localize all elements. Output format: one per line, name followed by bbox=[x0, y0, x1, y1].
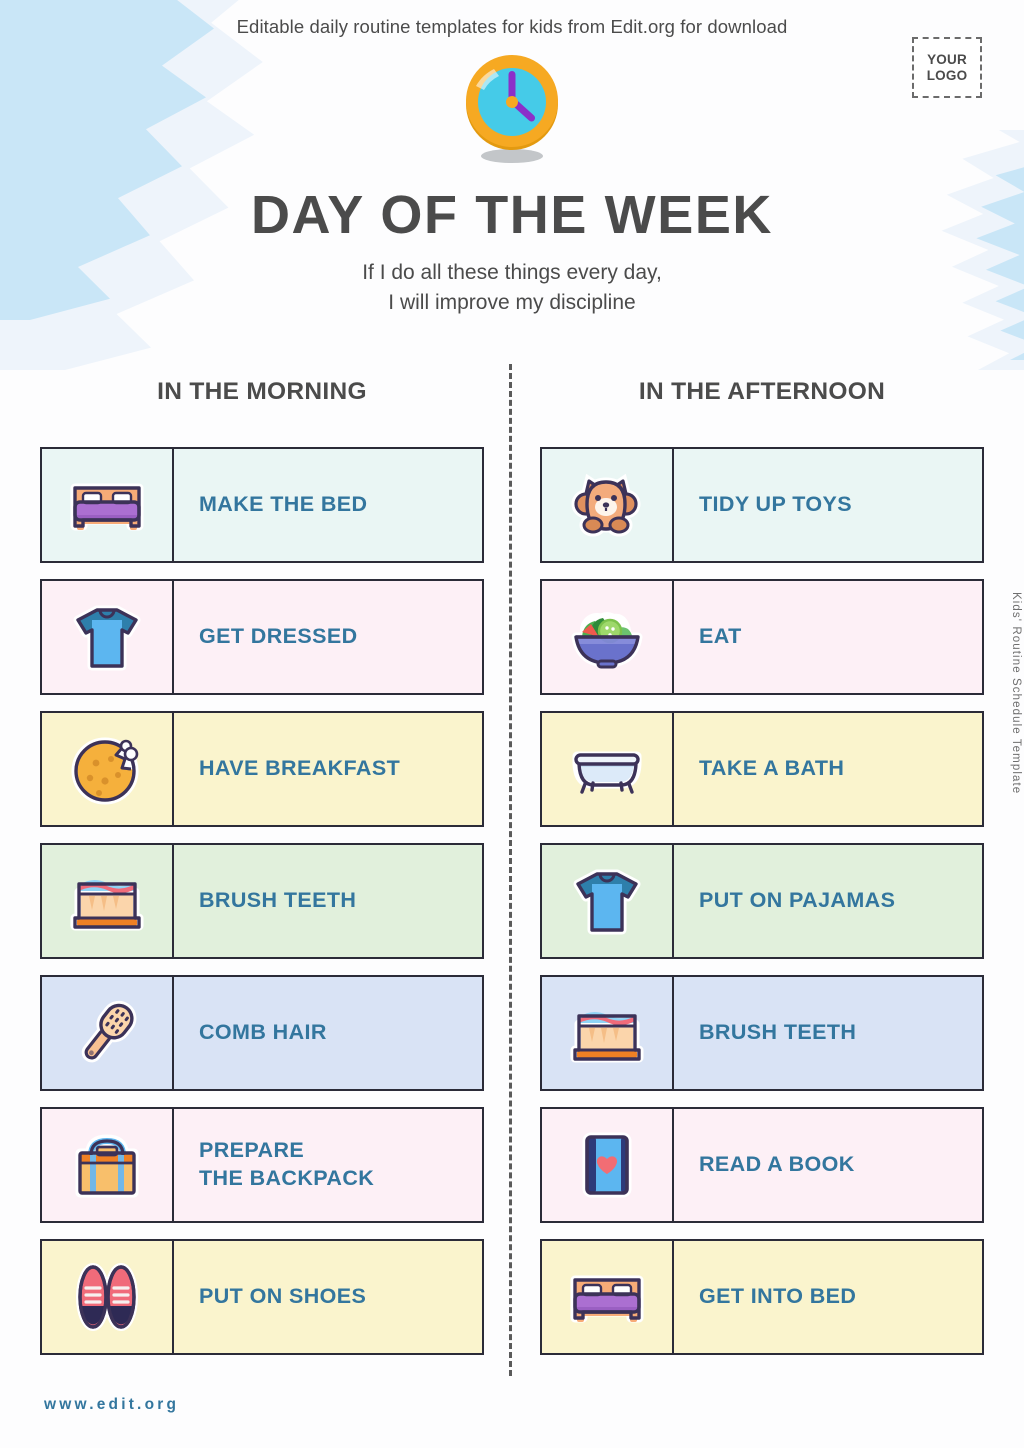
task-label-cell: TIDY UP TOYS bbox=[674, 449, 982, 561]
poster-page: Editable daily routine templates for kid… bbox=[0, 0, 1024, 1448]
backpack-icon bbox=[70, 1128, 144, 1202]
task-label-line-1: GET INTO BED bbox=[699, 1284, 856, 1308]
task-label-line-1: GET DRESSED bbox=[199, 624, 358, 648]
bed-icon bbox=[70, 468, 144, 542]
task-label-cell: BRUSH TEETH bbox=[674, 977, 982, 1089]
task-icon-cell bbox=[542, 1241, 674, 1353]
clock-illustration-wrap bbox=[0, 52, 1024, 167]
task-icon-cell bbox=[42, 1241, 174, 1353]
task-label-cell: PREPARETHE BACKPACK bbox=[174, 1109, 482, 1221]
task-label-line-1: PREPARE bbox=[199, 1138, 304, 1162]
subtitle-line-2: I will improve my discipline bbox=[0, 288, 1024, 318]
task-list-morning: MAKE THE BED GET DRESSED HAVE BREAKFAST bbox=[40, 447, 484, 1371]
task-icon-cell bbox=[542, 713, 674, 825]
task-row[interactable]: EAT bbox=[540, 579, 984, 695]
task-label-line-2: THE BACKPACK bbox=[199, 1165, 374, 1193]
subtitle-line-1: If I do all these things every day, bbox=[0, 258, 1024, 288]
task-label-line-1: PUT ON SHOES bbox=[199, 1284, 366, 1308]
cookie-icon bbox=[70, 732, 144, 806]
task-label-cell: TAKE A BATH bbox=[674, 713, 982, 825]
task-row[interactable]: COMB HAIR bbox=[40, 975, 484, 1091]
task-row[interactable]: READ A BOOK bbox=[540, 1107, 984, 1223]
column-heading-morning: IN THE MORNING bbox=[40, 378, 484, 406]
task-label-line-1: PUT ON PAJAMAS bbox=[699, 888, 895, 912]
task-label-line-1: BRUSH TEETH bbox=[699, 1020, 856, 1044]
page-title: DAY OF THE WEEK bbox=[0, 188, 1024, 242]
task-row[interactable]: HAVE BREAKFAST bbox=[40, 711, 484, 827]
task-label-cell: MAKE THE BED bbox=[174, 449, 482, 561]
task-label-cell: EAT bbox=[674, 581, 982, 693]
clock-icon bbox=[452, 52, 572, 167]
bathtub-icon bbox=[570, 732, 644, 806]
task-label-line-1: TIDY UP TOYS bbox=[699, 492, 852, 516]
toothpaste-icon bbox=[70, 864, 144, 938]
top-caption: Editable daily routine templates for kid… bbox=[0, 16, 1024, 38]
task-label-line-1: HAVE BREAKFAST bbox=[199, 756, 400, 780]
task-list-afternoon: TIDY UP TOYS EAT bbox=[540, 447, 984, 1371]
shoes-icon bbox=[70, 1260, 144, 1334]
task-label-cell: PUT ON SHOES bbox=[174, 1241, 482, 1353]
footer-url[interactable]: www.edit.org bbox=[44, 1396, 179, 1414]
task-row[interactable]: MAKE THE BED bbox=[40, 447, 484, 563]
task-label-cell: GET DRESSED bbox=[174, 581, 482, 693]
task-label-line-1: MAKE THE BED bbox=[199, 492, 367, 516]
task-icon-cell bbox=[542, 449, 674, 561]
task-row[interactable]: TAKE A BATH bbox=[540, 711, 984, 827]
book-icon bbox=[570, 1128, 644, 1202]
side-watermark-text: Kids' Routine Schedule Template bbox=[1010, 592, 1022, 794]
task-icon-cell bbox=[542, 581, 674, 693]
column-divider bbox=[509, 364, 512, 1376]
toothpaste-icon bbox=[570, 996, 644, 1070]
task-icon-cell bbox=[42, 581, 174, 693]
task-icon-cell bbox=[42, 713, 174, 825]
task-row[interactable]: PUT ON SHOES bbox=[40, 1239, 484, 1355]
task-row[interactable]: TIDY UP TOYS bbox=[540, 447, 984, 563]
task-label-cell: GET INTO BED bbox=[674, 1241, 982, 1353]
task-row[interactable]: BRUSH TEETH bbox=[540, 975, 984, 1091]
task-row[interactable]: GET DRESSED bbox=[40, 579, 484, 695]
task-row[interactable]: PREPARETHE BACKPACK bbox=[40, 1107, 484, 1223]
task-icon-cell bbox=[542, 977, 674, 1089]
task-label-line-1: EAT bbox=[699, 624, 742, 648]
task-label-cell: COMB HAIR bbox=[174, 977, 482, 1089]
task-label-cell: HAVE BREAKFAST bbox=[174, 713, 482, 825]
task-row[interactable]: PUT ON PAJAMAS bbox=[540, 843, 984, 959]
task-icon-cell bbox=[542, 845, 674, 957]
blob-right-front bbox=[914, 150, 1024, 360]
teddy-bear-icon bbox=[570, 468, 644, 542]
task-row[interactable]: GET INTO BED bbox=[540, 1239, 984, 1355]
task-icon-cell bbox=[42, 1109, 174, 1221]
task-label-cell: READ A BOOK bbox=[674, 1109, 982, 1221]
task-icon-cell bbox=[42, 449, 174, 561]
task-label-line-1: TAKE A BATH bbox=[699, 756, 844, 780]
page-subtitle: If I do all these things every day, I wi… bbox=[0, 258, 1024, 319]
task-label-line-1: COMB HAIR bbox=[199, 1020, 327, 1044]
column-heading-afternoon: IN THE AFTERNOON bbox=[540, 378, 984, 406]
task-label-line-1: READ A BOOK bbox=[699, 1152, 855, 1176]
hairbrush-icon bbox=[70, 996, 144, 1070]
tshirt-icon bbox=[570, 864, 644, 938]
bed-icon bbox=[570, 1260, 644, 1334]
task-icon-cell bbox=[42, 845, 174, 957]
task-label-cell: BRUSH TEETH bbox=[174, 845, 482, 957]
task-row[interactable]: BRUSH TEETH bbox=[40, 843, 484, 959]
task-label-cell: PUT ON PAJAMAS bbox=[674, 845, 982, 957]
tshirt-icon bbox=[70, 600, 144, 674]
task-icon-cell bbox=[542, 1109, 674, 1221]
task-label-line-1: BRUSH TEETH bbox=[199, 888, 356, 912]
task-icon-cell bbox=[42, 977, 174, 1089]
salad-bowl-icon bbox=[570, 600, 644, 674]
